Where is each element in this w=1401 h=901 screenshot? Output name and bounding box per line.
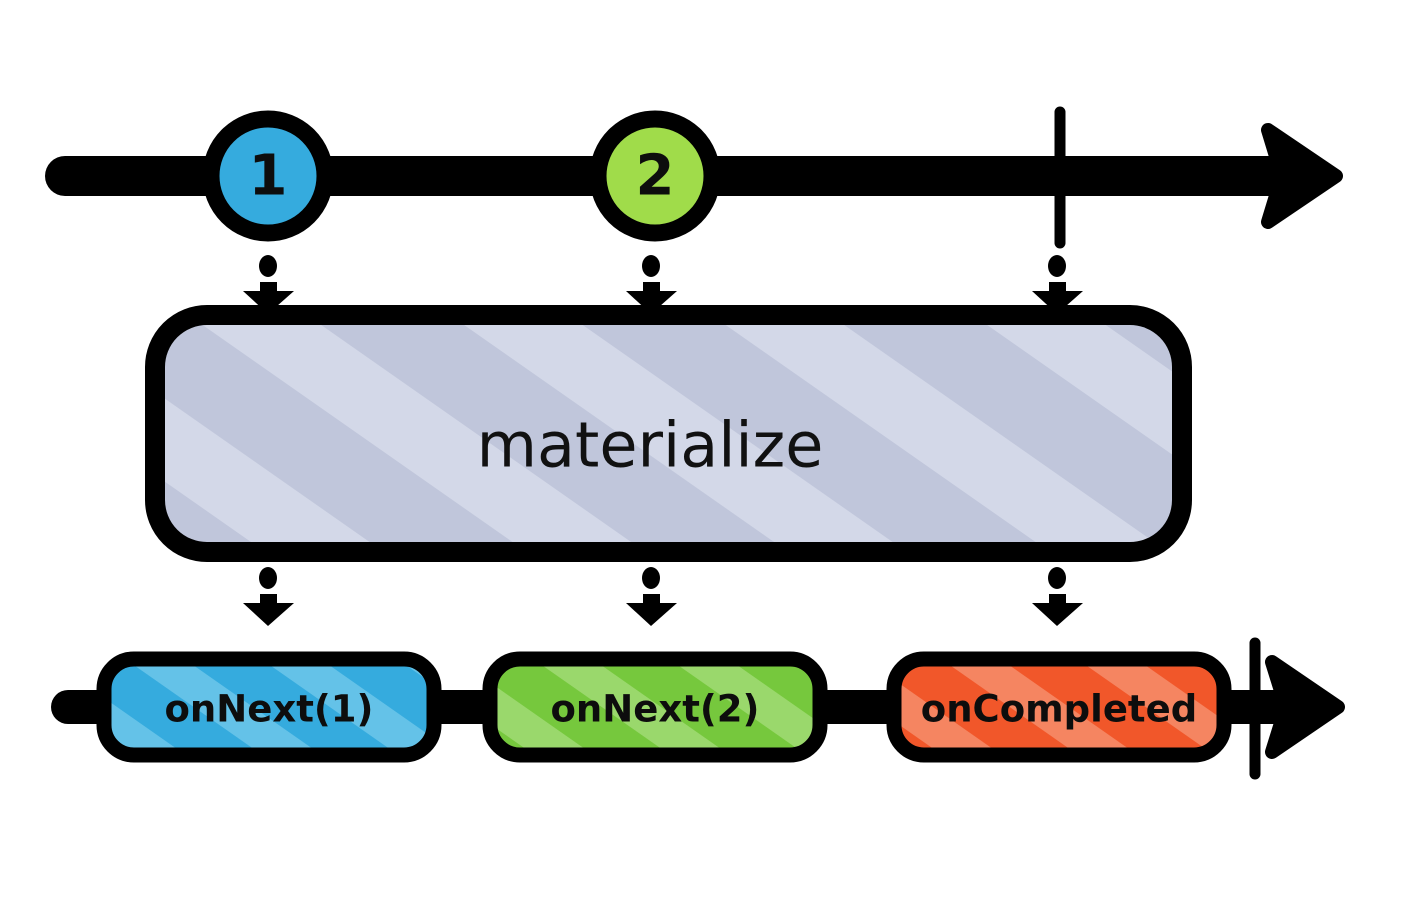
notification-oncompleted-label: onCompleted xyxy=(921,688,1197,731)
notification-onnext-2[interactable]: onNext(2) xyxy=(490,659,820,755)
output-arrow-1 xyxy=(243,567,294,626)
marble-1[interactable]: 1 xyxy=(211,119,325,233)
source-timeline-arrowhead xyxy=(1268,130,1336,222)
notification-onnext-1-label: onNext(1) xyxy=(165,688,374,731)
output-timeline: onNext(1) onNext(2) onCompleted xyxy=(68,643,1338,774)
marble-2-label: 2 xyxy=(636,144,675,209)
operator-box-label: materialize xyxy=(477,409,824,482)
marble-1-label: 1 xyxy=(249,144,288,209)
notification-oncompleted[interactable]: onCompleted xyxy=(894,659,1224,755)
marble-diagram-materialize: 1 2 xyxy=(0,0,1401,901)
output-arrow-3 xyxy=(1032,567,1083,626)
operator-box[interactable]: materialize xyxy=(155,315,1182,552)
source-timeline: 1 2 xyxy=(65,112,1336,243)
diagram-canvas: 1 2 xyxy=(0,0,1401,901)
marble-2[interactable]: 2 xyxy=(598,119,712,233)
output-timeline-arrowhead xyxy=(1272,662,1338,752)
output-arrows-group xyxy=(243,567,1083,626)
notification-onnext-1[interactable]: onNext(1) xyxy=(104,659,434,755)
notification-onnext-2-label: onNext(2) xyxy=(551,688,760,731)
output-arrow-2 xyxy=(626,567,677,626)
